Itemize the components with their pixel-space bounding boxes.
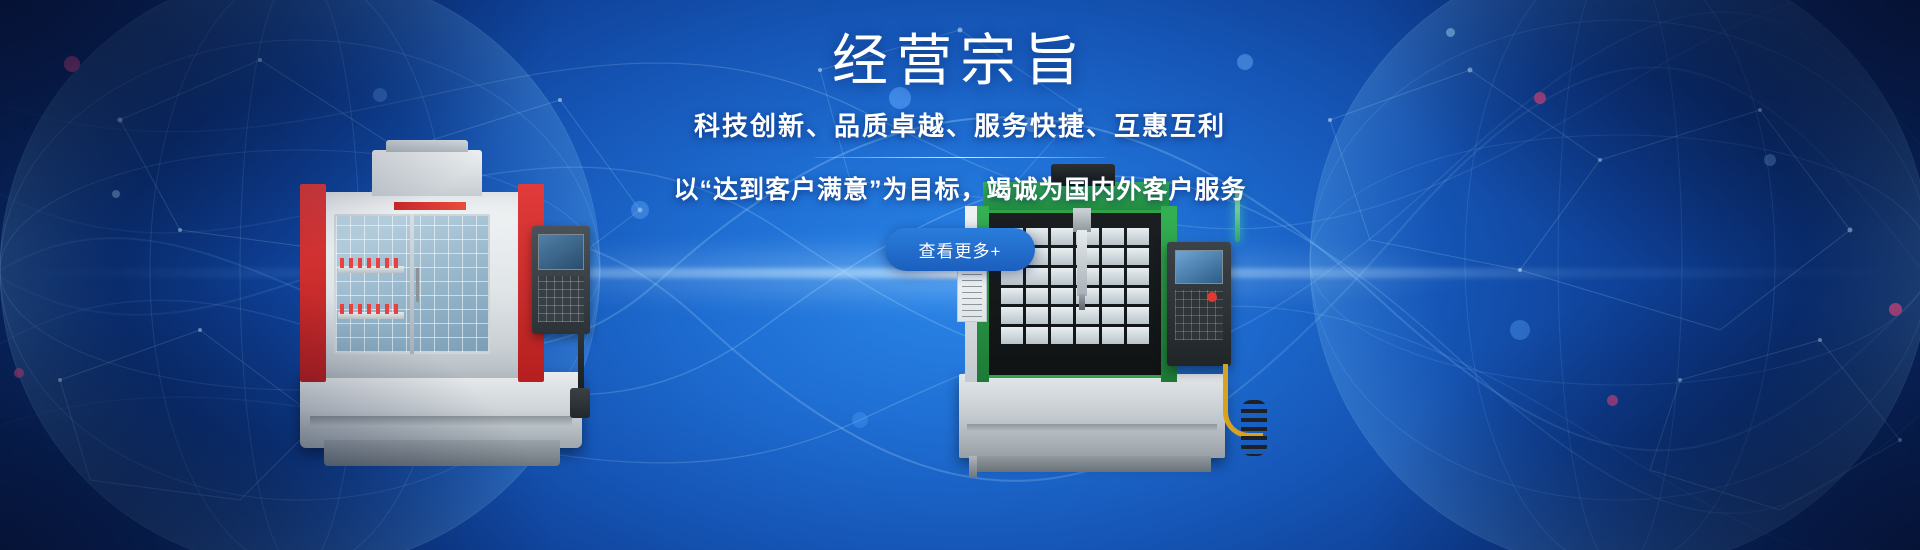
banner-title: 经营宗旨 <box>0 26 1920 96</box>
banner-tagline: 以“达到客户满意”为目标，竭诚为国内外客户服务 <box>0 170 1920 206</box>
view-more-button[interactable]: 查看更多+ <box>885 228 1036 271</box>
banner-content: 经营宗旨 科技创新、品质卓越、服务快捷、互惠互利 以“达到客户满意”为目标，竭诚… <box>0 26 1920 271</box>
accent-dot-pink-5 <box>14 368 24 378</box>
hero-banner: 经营宗旨 科技创新、品质卓越、服务快捷、互惠互利 以“达到客户满意”为目标，竭诚… <box>0 0 1920 550</box>
banner-subtitle: 科技创新、品质卓越、服务快捷、互惠互利 <box>0 106 1920 143</box>
accent-dot-pink-3 <box>1889 303 1902 316</box>
accent-dot-pink-4 <box>1607 395 1618 406</box>
title-divider <box>815 157 1105 158</box>
